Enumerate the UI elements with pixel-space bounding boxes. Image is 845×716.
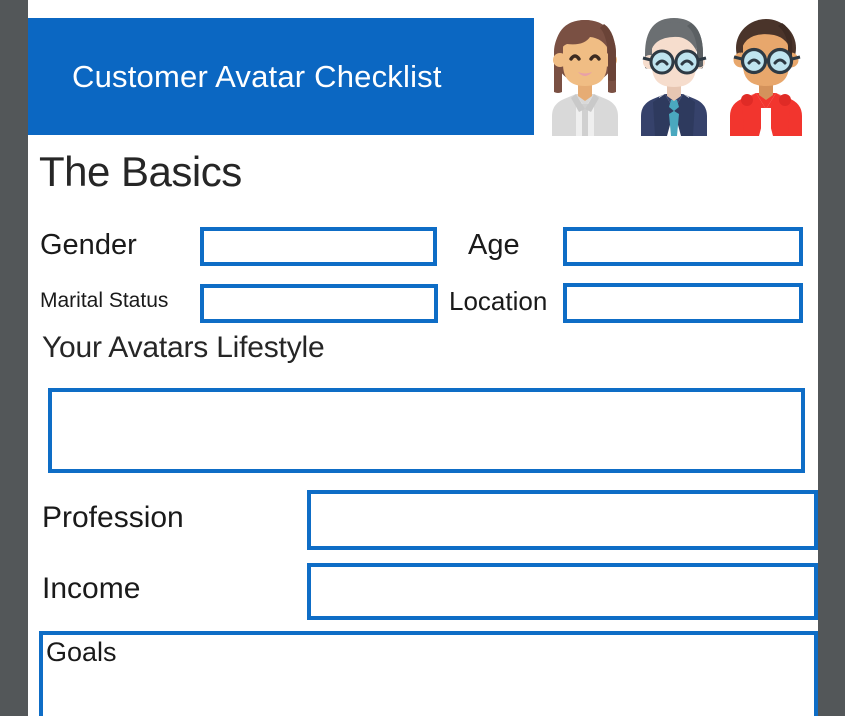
label-gender: Gender (40, 231, 137, 260)
field-profession[interactable] (307, 490, 818, 550)
header-banner: Customer Avatar Checklist (28, 18, 534, 135)
label-location: Location (449, 288, 547, 314)
field-age[interactable] (563, 227, 803, 266)
section-heading-basics: The Basics (39, 148, 242, 196)
field-lifestyle[interactable] (48, 388, 805, 473)
label-marital-status: Marital Status (40, 290, 168, 311)
gender-input[interactable] (204, 231, 433, 262)
age-input[interactable] (567, 231, 799, 262)
field-marital-status[interactable] (200, 284, 438, 323)
page-title: Customer Avatar Checklist (72, 18, 522, 135)
avatar-woman-grey-blazer-icon (542, 8, 628, 136)
goals-input[interactable] (43, 635, 814, 716)
field-goals[interactable] (39, 631, 818, 716)
field-gender[interactable] (200, 227, 437, 266)
avatar-man-red-jacket-icon (720, 8, 814, 136)
profession-input[interactable] (311, 494, 814, 546)
label-age: Age (468, 231, 520, 260)
label-goals: Goals (46, 639, 117, 666)
document-page: Customer Avatar Checklist (28, 0, 818, 716)
income-input[interactable] (311, 567, 814, 616)
marital-status-input[interactable] (204, 288, 434, 319)
section-heading-lifestyle: Your Avatars Lifestyle (42, 331, 324, 365)
label-income: Income (42, 574, 140, 604)
label-profession: Profession (42, 503, 184, 533)
location-input[interactable] (567, 287, 799, 319)
avatar-man-navy-suit-icon (629, 8, 719, 136)
field-income[interactable] (307, 563, 818, 620)
field-location[interactable] (563, 283, 803, 323)
lifestyle-input[interactable] (52, 392, 801, 469)
avatar-group (542, 8, 818, 136)
screenshot-canvas: Customer Avatar Checklist (0, 0, 845, 716)
